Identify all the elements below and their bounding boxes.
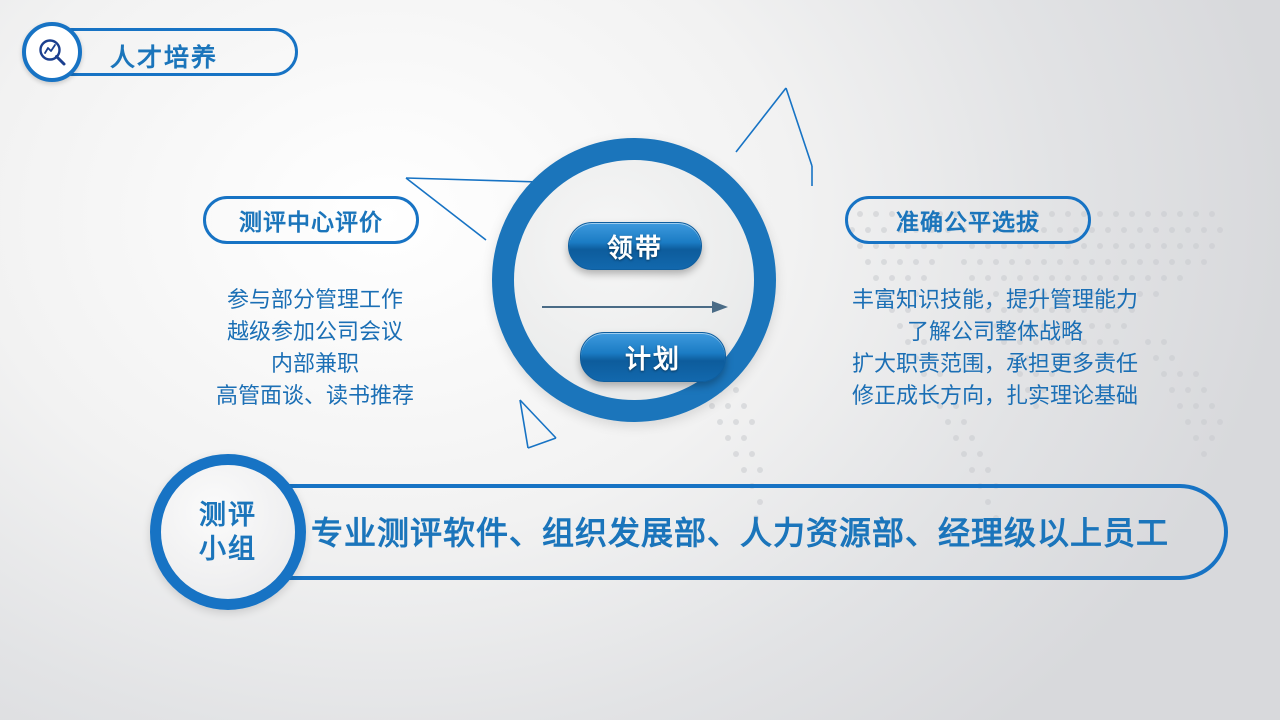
bottom-circle-line2: 小组	[199, 532, 257, 566]
page-title: 人才培养	[110, 38, 218, 74]
search-chart-icon-container	[22, 22, 82, 82]
left-title-pill[interactable]: 测评中心评价	[203, 196, 419, 244]
bottom-bar-text: 专业测评软件、组织发展部、人力资源部、经理级以上员工	[300, 508, 1180, 554]
center-arrow-icon	[542, 300, 728, 314]
center-pill-bottom[interactable]: 计划	[580, 332, 726, 382]
center-pill-top[interactable]: 领带	[568, 222, 702, 270]
left-body-text: 参与部分管理工作 越级参加公司会议 内部兼职 高管面谈、读书推荐	[160, 284, 470, 412]
right-body-text: 丰富知识技能，提升管理能力 了解公司整体战略 扩大职责范围，承担更多责任 修正成…	[820, 284, 1170, 412]
bottom-circle-badge[interactable]: 测评 小组	[150, 454, 306, 610]
right-title-pill[interactable]: 准确公平选拔	[845, 196, 1091, 244]
slide-canvas: 人才培养 领带 计划 测评中心评价 参与部分管理工作 越级参加公司会议 内部兼职…	[0, 0, 1280, 720]
bottom-circle-line1: 测评	[199, 498, 257, 532]
search-chart-icon	[37, 37, 67, 67]
